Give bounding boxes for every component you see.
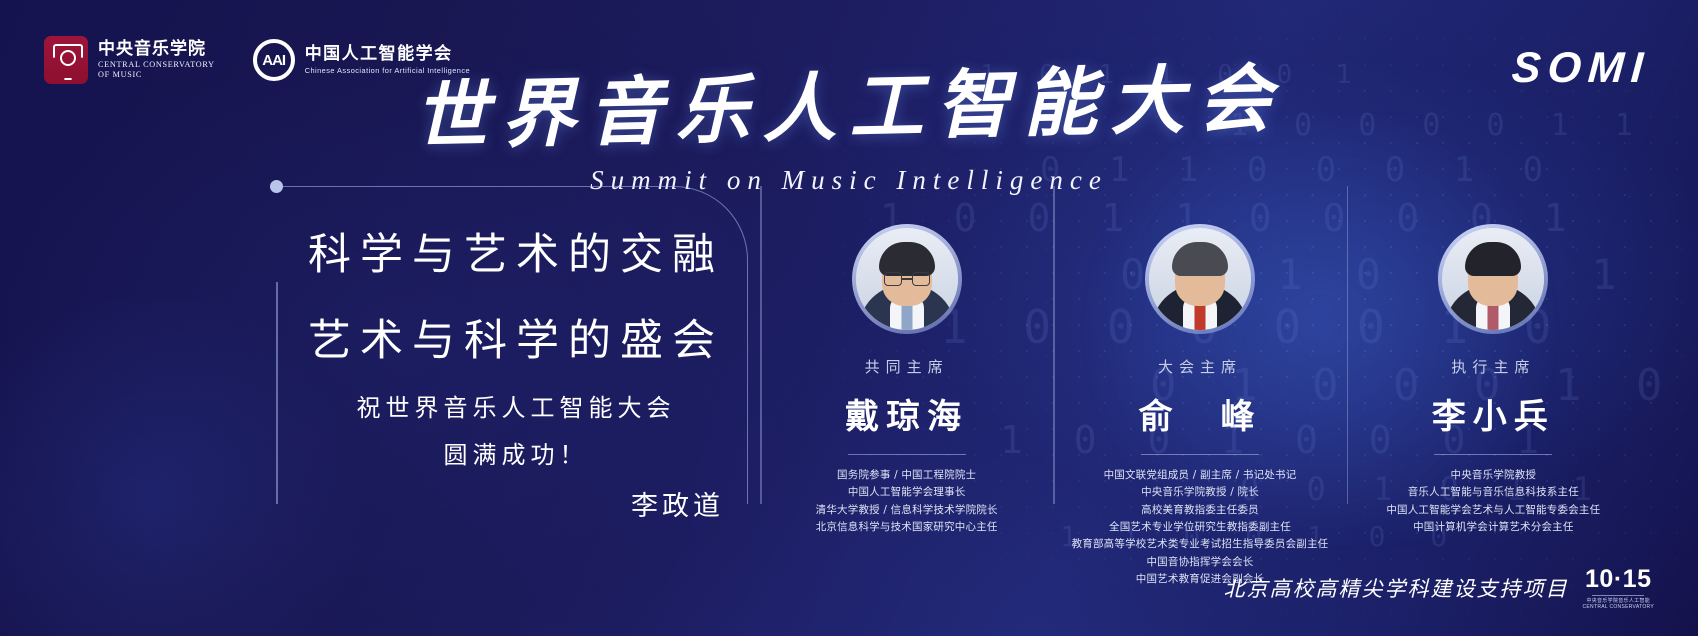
speaker-rule xyxy=(1141,454,1259,455)
poster-canvas: 1 0 1 1 0 0 1 1 0 0 0 0 1 1 0 1 1 0 0 0 … xyxy=(0,0,1698,636)
quote-panel: 科学与艺术的交融 艺术与科学的盛会 祝世界音乐人工智能大会 圆满成功！ 李政道 xyxy=(276,186,748,504)
avatar xyxy=(1145,224,1255,334)
speaker-divider xyxy=(1347,186,1349,504)
speaker-card: 执行主席 李小兵 中央音乐学院教授 音乐人工智能与音乐信息科技系主任 中国人工智… xyxy=(1347,186,1640,506)
quote-line-1: 科学与艺术的交融 xyxy=(286,220,746,282)
speaker-card: 大会主席 俞 峰 中国文联党组成员 / 副主席 / 书记处书记 中央音乐学院教授… xyxy=(1053,186,1346,506)
speakers-row: 共同主席 戴琼海 国务院参事 / 中国工程院院士 中国人工智能学会理事长 清华大… xyxy=(760,186,1640,506)
quote-line-4: 圆满成功！ xyxy=(286,435,746,470)
quote-corner-dot-icon xyxy=(270,180,283,193)
credential-line: 中国文联党组成员 / 副主席 / 书记处书记 xyxy=(1053,467,1346,484)
page-title: 世界音乐人工智能大会 xyxy=(413,39,1285,164)
speaker-role: 共同主席 xyxy=(760,356,1053,377)
credential-line: 中国人工智能学会艺术与人工智能专委会主任 xyxy=(1347,502,1640,519)
project-credit: 北京高校高精尖学科建设支持项目 10·15 中央音乐学院音乐人工智能 CENTR… xyxy=(1224,567,1654,611)
project-text: 北京高校高精尖学科建设支持项目 xyxy=(1224,573,1569,603)
speaker-divider xyxy=(1053,186,1055,504)
speaker-divider xyxy=(760,186,762,504)
avatar xyxy=(852,224,962,334)
credential-line: 清华大学教授 / 信息科学技术学院院长 xyxy=(760,502,1053,519)
credential-line: 中国人工智能学会理事长 xyxy=(760,484,1053,501)
speaker-role: 大会主席 xyxy=(1053,356,1346,377)
credential-line: 国务院参事 / 中国工程院院士 xyxy=(760,467,1053,484)
credential-line: 教育部高等学校艺术类专业考试招生指导委员会副主任 xyxy=(1053,536,1346,553)
speaker-name: 李小兵 xyxy=(1347,389,1640,438)
credential-line: 中国计算机学会计算艺术分会主任 xyxy=(1347,519,1640,536)
project-logo: 10·15 中央音乐学院音乐人工智能 CENTRAL CONSERVATORY xyxy=(1583,567,1654,611)
quote-signature: 李政道 xyxy=(286,484,746,523)
title-block: 世界音乐人工智能大会 Summit on Music Intelligence xyxy=(0,48,1698,196)
speaker-credentials: 中央音乐学院教授 音乐人工智能与音乐信息科技系主任 中国人工智能学会艺术与人工智… xyxy=(1347,467,1640,536)
credential-line: 音乐人工智能与音乐信息科技系主任 xyxy=(1347,484,1640,501)
avatar xyxy=(1438,224,1548,334)
credential-line: 全国艺术专业学位研究生教指委副主任 xyxy=(1053,519,1346,536)
credential-line: 中央音乐学院教授 / 院长 xyxy=(1053,484,1346,501)
glasses-icon xyxy=(884,272,930,286)
credential-line: 北京信息科学与技术国家研究中心主任 xyxy=(760,519,1053,536)
project-logo-sub-en: CENTRAL CONSERVATORY xyxy=(1583,605,1654,610)
speaker-name: 戴琼海 xyxy=(760,389,1053,438)
quote-line-2: 艺术与科学的盛会 xyxy=(286,306,746,368)
quote-line-3: 祝世界音乐人工智能大会 xyxy=(286,388,746,423)
speaker-rule xyxy=(848,454,966,455)
speaker-credentials: 国务院参事 / 中国工程院院士 中国人工智能学会理事长 清华大学教授 / 信息科… xyxy=(760,467,1053,536)
credential-line: 高校美育教指委主任委员 xyxy=(1053,502,1346,519)
speaker-role: 执行主席 xyxy=(1347,356,1640,377)
speaker-rule xyxy=(1434,454,1552,455)
quote-frame-left-rule xyxy=(276,282,278,504)
speaker-card: 共同主席 戴琼海 国务院参事 / 中国工程院院士 中国人工智能学会理事长 清华大… xyxy=(760,186,1053,506)
credential-line: 中央音乐学院教授 xyxy=(1347,467,1640,484)
project-logo-number: 10·15 xyxy=(1583,567,1654,592)
project-logo-sub-cn: 中央音乐学院音乐人工智能 xyxy=(1583,599,1654,604)
speaker-name: 俞 峰 xyxy=(1053,389,1346,438)
